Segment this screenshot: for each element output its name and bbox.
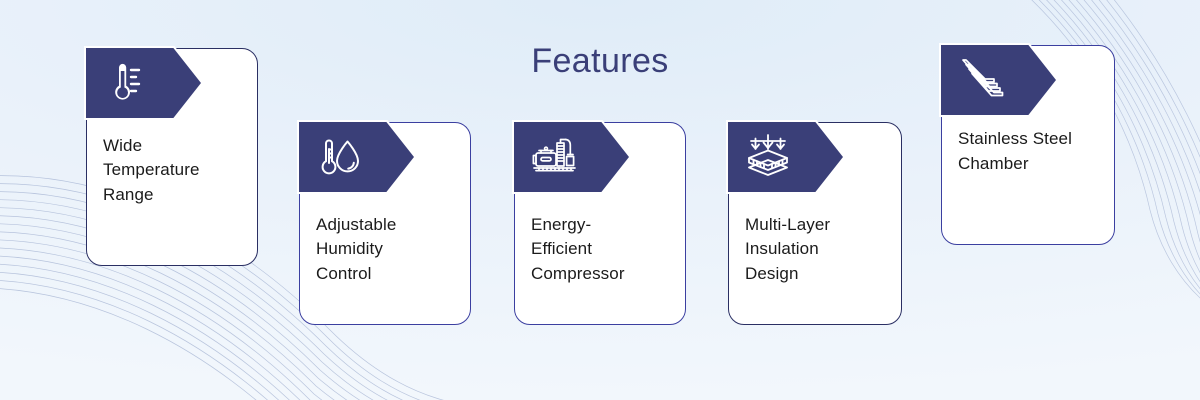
- feature-card-energy-efficient-compressor[interactable]: Energy- Efficient Compressor: [514, 122, 686, 325]
- feature-card-multi-layer-insulation-design[interactable]: Multi-Layer Insulation Design: [728, 122, 902, 325]
- feature-card-ribbon: [514, 122, 629, 192]
- feature-card-ribbon: [728, 122, 843, 192]
- feature-card-label: Adjustable Humidity Control: [316, 213, 454, 287]
- feature-card-label: Wide Temperature Range: [103, 134, 241, 208]
- feature-card-ribbon: [86, 48, 201, 118]
- feature-card-label: Stainless Steel Chamber: [958, 127, 1098, 176]
- feature-card-stainless-steel-chamber[interactable]: Stainless Steel Chamber: [941, 45, 1115, 245]
- layers-insulation-icon: [742, 131, 794, 183]
- feature-card-label: Multi-Layer Insulation Design: [745, 213, 885, 287]
- thermometer-droplet-icon: [313, 131, 365, 183]
- feature-card-label: Energy- Efficient Compressor: [531, 213, 669, 287]
- feature-card-ribbon: [299, 122, 414, 192]
- thermometer-icon: [100, 57, 152, 109]
- steel-sheets-icon: [955, 54, 1007, 106]
- feature-card-adjustable-humidity-control[interactable]: Adjustable Humidity Control: [299, 122, 471, 325]
- feature-card-wide-temperature-range[interactable]: Wide Temperature Range: [86, 48, 258, 266]
- infographic-canvas: Features Wide Temperature Range: [0, 0, 1200, 400]
- feature-card-ribbon: [941, 45, 1056, 115]
- compressor-icon: [528, 131, 580, 183]
